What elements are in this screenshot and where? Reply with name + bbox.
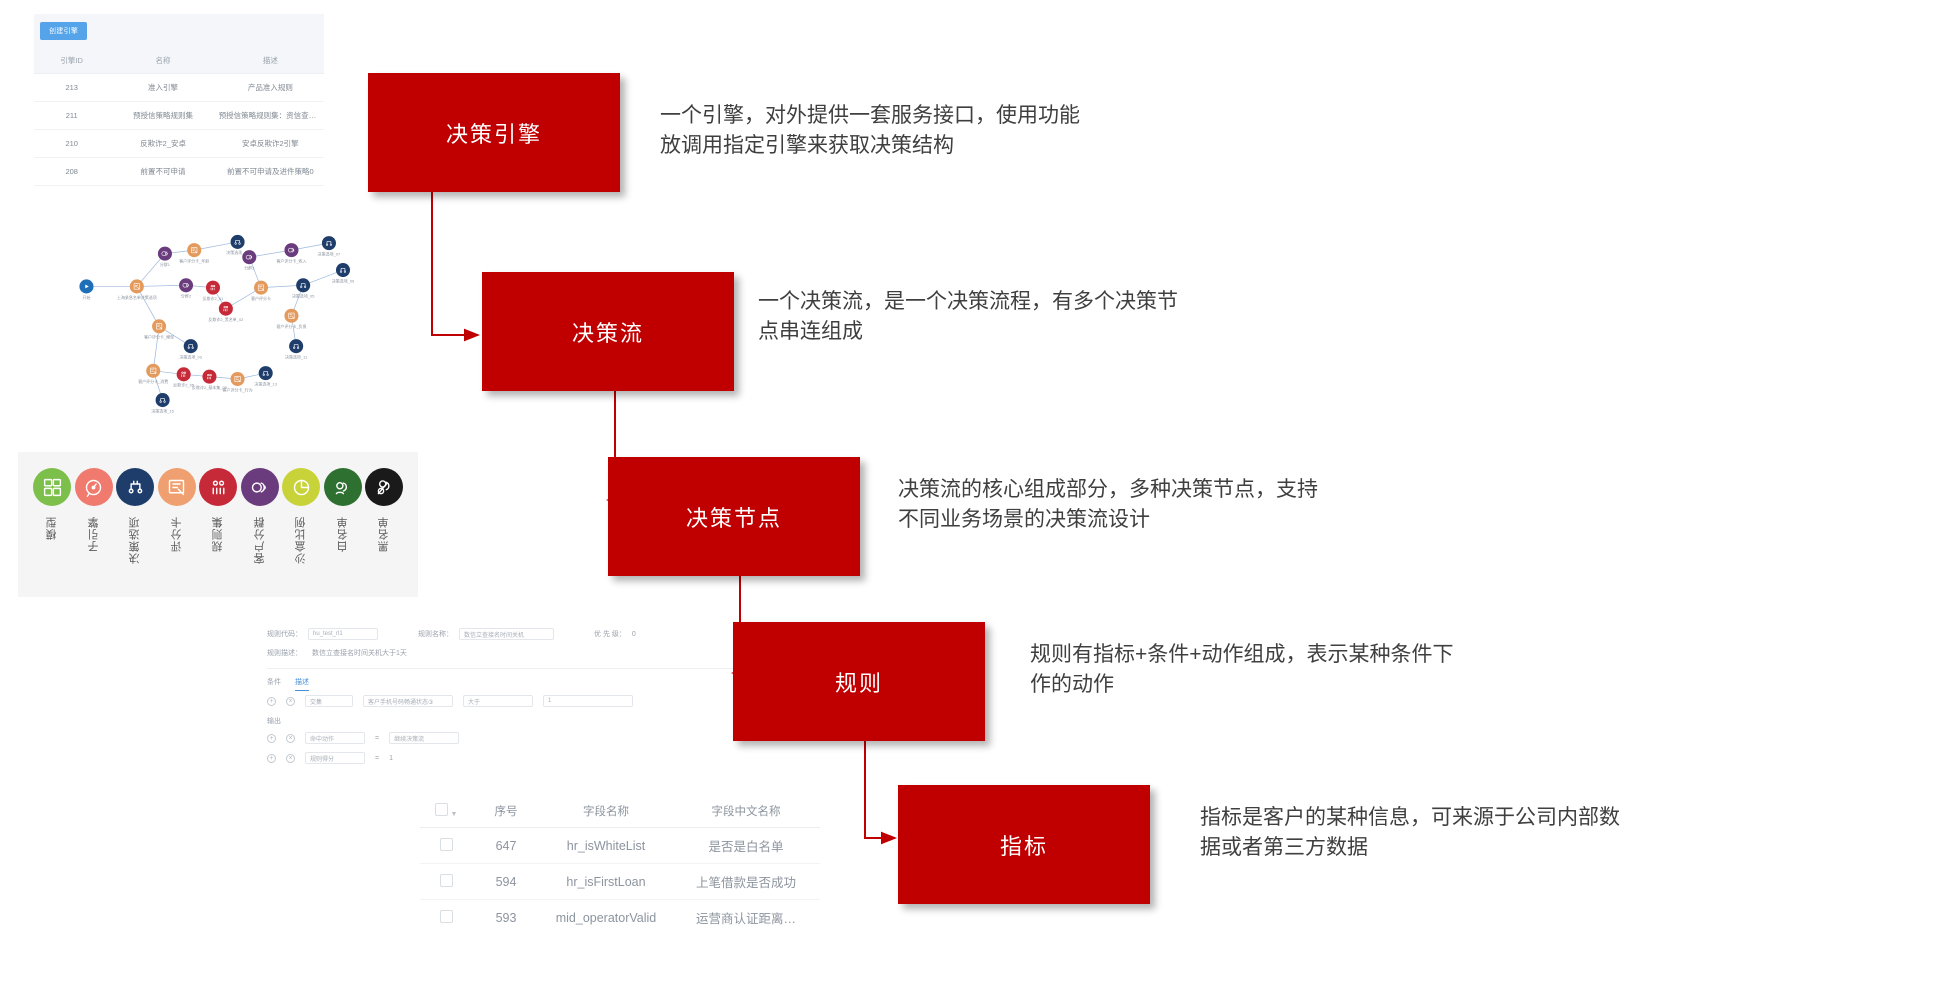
row-select-cell [420,864,472,900]
output-value-select[interactable]: 继续决策流 [389,732,459,744]
ruleset-icon [199,468,237,506]
remove-condition-icon[interactable]: × [286,697,295,706]
rule-priority-group: 优 先 级： 0 [594,628,636,640]
indicator-seq: 594 [472,864,540,900]
flow-node-label: 决策选项_07 [318,251,341,256]
remove-output-icon[interactable]: × [286,754,295,763]
select-all-cell: ▼ [420,795,472,828]
score-icon [152,319,166,333]
rule-tab-bar: 条件 描述 [255,675,785,691]
engine-name: 产品准入 [109,186,216,193]
chevron-down-icon[interactable]: ▼ [451,811,458,818]
callout-box-flow: 决策流 [482,272,734,391]
indicator-seq: 647 [472,828,540,864]
node-type-label: 白名单 [335,516,351,552]
rule-icon [219,302,233,316]
indicator-cn: 是否是白名单 [672,828,820,864]
rule-name-input[interactable]: 数信立查接名时间关机 [459,628,554,640]
indicator-table-screenshot: ▼ 序号 字段名称 字段中文名称 647 hr_isWhiteList 是否是白… [420,795,820,935]
flow-node[interactable]: 反欺诈2_黑名单_02 [208,302,243,322]
create-engine-button[interactable]: 创建引擎 [40,22,87,40]
flow-node[interactable]: 决策选项_11 [285,339,308,359]
output-row: + × 命中动作 = 继续决策流 [255,728,785,748]
segment-icon [284,243,298,257]
option-icon [130,279,144,293]
flow-node[interactable]: 决策选项_13 [254,366,277,386]
score-icon [254,281,268,295]
segment-icon [241,468,279,506]
flow-node-label: 分群3 [244,265,255,270]
node-type-sub-engine[interactable]: 子引擎 [74,468,114,564]
flow-edge [137,285,186,286]
segment-icon [158,247,172,261]
decision-icon [156,393,170,407]
flow-node[interactable]: 分群2 [179,278,193,298]
node-type-label: 沙盒比例 [293,516,309,564]
score-icon [146,364,160,378]
condition-operator-select[interactable]: 大于 [463,695,533,707]
node-type-whitelist[interactable]: 白名单 [323,468,363,564]
row-checkbox[interactable] [440,838,453,851]
flow-node-label: 反欺诈2_黑名单_02 [208,317,243,322]
engine-name: 前置不可申请 [109,158,216,186]
flow-node[interactable]: 客户评分卡_模型 [144,319,174,339]
node-type-label: 黑名单 [376,516,392,552]
note-indicator: 指标是客户的某种信息，可来源于公司内部数 据或者第三方数据 [1200,803,1880,864]
score-icon [284,309,298,323]
output-row: + × 规则得分 = 1 [255,748,785,768]
whitelist-icon [324,468,362,506]
condition-join-select[interactable]: 交集 [305,695,353,707]
condition-indicator-select[interactable]: 客户手机号码畅通状态③ [363,695,453,707]
engine-col-name: 名称 [109,48,216,74]
decision-icon [289,339,303,353]
rule-code-group: 规则代码： hu_test_rl1 [267,628,378,640]
engine-desc: 安卓反欺诈2引擎 [217,130,324,158]
blacklist-icon [365,468,403,506]
rule-priority-value[interactable]: 0 [632,631,636,638]
engine-id: 211 [34,102,109,130]
tab-condition[interactable]: 条件 [267,677,281,691]
decision-flow-screenshot: 开始上海紧急名单决策选项分群1客户评分卡_年龄决策选项_01分群2反欺诈2_01… [30,215,410,420]
engine-id: 210 [34,130,109,158]
flow-node-label: 客户评分卡_年龄 [179,258,209,263]
note-node: 决策流的核心组成部分，多种决策节点，支持 不同业务场景的决策流设计 [898,475,1578,536]
flow-node[interactable]: 决策选项_05 [292,278,315,298]
indicator-field: hr_isWhiteList [540,828,672,864]
engine-id: 207 [34,186,109,193]
flow-node[interactable]: 决策选项_03 [179,339,202,359]
engine-id: 213 [34,74,109,102]
engine-desc: 产品准入规则 [217,186,324,193]
decision-icon [184,339,198,353]
indicator-header-row: ▼ 序号 字段名称 字段中文名称 [420,795,820,828]
node-types-screenshot: 模型子引擎决策选项评分卡规则集客户分群沙盒比例白名单黑名单 [18,452,418,597]
flow-node-label: 决策选项_05 [292,294,315,299]
decision-icon [259,366,273,380]
rule-icon [202,370,216,384]
node-type-label: 模型 [44,516,60,540]
engine-col-desc: 描述 [217,48,324,74]
rule-desc-value[interactable]: 数信立查接名时间关机大于1天 [312,648,407,658]
flow-node-label: 客户评分卡_负债 [276,324,306,329]
output-section-title: 输出 [255,711,785,728]
indicator-seq: 593 [472,900,540,936]
output-field-select[interactable]: 规则得分 [305,752,365,764]
flow-node[interactable]: 开始 [79,279,93,299]
add-output-icon[interactable]: + [267,734,276,743]
callout-box-indicator: 指标 [898,785,1150,904]
flow-node-label: 客户评分卡_消费 [138,379,168,384]
table-row[interactable]: 594 hr_isFirstLoan 上笔借款是否成功 [420,864,820,900]
flow-node[interactable]: 决策选项_07 [318,236,341,256]
segment-icon [179,278,193,292]
flow-node[interactable]: 上海紧急名单决策选项 [117,279,157,299]
indicator-col-seq: 序号 [472,795,540,828]
callout-box-node: 决策节点 [608,457,860,576]
engine-name: 预授信策略规则集 [109,102,216,130]
flow-node[interactable]: 反欺诈2_01 [203,281,225,301]
row-select-cell [420,900,472,936]
row-checkbox[interactable] [440,874,453,887]
scorecard-icon [158,468,196,506]
node-type-ruleset[interactable]: 规则集 [198,468,238,564]
indicator-col-cn: 字段中文名称 [672,795,820,828]
divider [267,668,773,669]
flow-node[interactable]: 客户评分卡 [251,281,271,301]
slide-canvas: 创建引擎 引擎ID 名称 描述 213 准入引擎 产品准入规则 211 预授信策… [0,0,1934,998]
engine-table-header-row: 引擎ID 名称 描述 [34,48,324,74]
rule-icon [206,281,220,295]
table-row[interactable]: 211 预授信策略规则集 预授信策略规则集：资信查询节 [34,102,324,130]
node-type-decision-option[interactable]: 决策选项 [115,468,155,564]
add-output-icon[interactable]: + [267,754,276,763]
engine-name: 准入引擎 [109,74,216,102]
output-value[interactable]: 1 [389,755,393,762]
note-engine: 一个引擎，对外提供一套服务接口，使用功能 放调用指定引擎来获取决策结构 [660,101,1340,162]
table-row[interactable]: 208 前置不可申请 前置不可申请及进件策略0 [34,158,324,186]
output-field-select[interactable]: 命中动作 [305,732,365,744]
decision-icon [322,236,336,250]
flow-node-label: 决策选项_09 [332,278,355,283]
note-flow: 一个决策流，是一个决策流程，有多个决策节 点串连组成 [758,287,1438,348]
rule-meta-row: 规则代码： hu_test_rl1 规则名称： 数信立查接名时间关机 优 先 级… [255,620,785,644]
node-types-row: 模型子引擎决策选项评分卡规则集客户分群沙盒比例白名单黑名单 [18,452,418,564]
indicator-col-field: 字段名称 [540,795,672,828]
output-operator: = [375,755,379,762]
score-icon [187,243,201,257]
note-rule: 规则有指标+条件+动作组成，表示某种条件下 作的动作 [1030,640,1710,701]
rule-editor-screenshot: 规则代码： hu_test_rl1 规则名称： 数信立查接名时间关机 优 先 级… [255,620,785,800]
flow-node[interactable]: 客户评分卡_年龄 [179,243,209,263]
flow-node-label: 反欺诈2_01 [203,296,225,301]
table-row[interactable]: 593 mid_operatorValid 运营商认证距离… [420,900,820,936]
flow-node-label: 分群2 [181,294,191,299]
connector-rule-to-indicator [865,735,895,838]
node-type-label: 决策选项 [127,516,143,564]
flow-node[interactable]: 分群1 [158,247,172,267]
connector-engine-to-flow [432,190,478,335]
node-type-segment[interactable]: 客户分群 [240,468,280,564]
flow-node[interactable]: 客户评分卡_消费 [138,364,168,384]
flow-node[interactable]: 客户评分卡_收入 [276,243,306,263]
flow-node-label: 客户评分卡_模型 [144,335,174,340]
node-type-blacklist[interactable]: 黑名单 [364,468,404,564]
node-type-label: 评分卡 [169,516,185,552]
callout-box-rule: 规则 [733,622,985,741]
score-icon [231,372,245,386]
decision-option-icon [116,468,154,506]
node-type-label: 子引擎 [86,516,102,552]
sub-engine-icon [75,468,113,506]
node-type-label: 规则集 [210,516,226,552]
rule-icon [177,367,191,381]
flow-node-label: 决策选项_03 [179,355,202,360]
decision-icon [296,278,310,292]
engine-id: 208 [34,158,109,186]
decision-icon [336,263,350,277]
table-row[interactable]: 647 hr_isWhiteList 是否是白名单 [420,828,820,864]
rule-priority-label: 优 先 级： [594,629,626,639]
flow-node-label: 上海紧急名单决策选项 [117,295,157,300]
engine-name: 反欺诈2_安卓 [109,130,216,158]
engine-list-screenshot: 创建引擎 引擎ID 名称 描述 213 准入引擎 产品准入规则 211 预授信策… [34,14,324,192]
sandbox-ratio-icon [282,468,320,506]
flow-node-label: 开始 [82,295,90,300]
callout-box-engine: 决策引擎 [368,73,620,192]
rule-desc-label: 规则描述： [267,648,302,658]
flow-node-label: 客户评分卡 [251,296,271,301]
flow-node-label: 客户评分卡_行为 [223,387,253,392]
flow-node-label: 决策选项_15 [151,408,174,413]
engine-col-id: 引擎ID [34,48,109,74]
table-row[interactable]: 210 反欺诈2_安卓 安卓反欺诈2引擎 [34,130,324,158]
add-condition-icon[interactable]: + [267,697,276,706]
node-type-label: 客户分群 [252,516,268,564]
decision-icon [231,235,245,249]
engine-desc: 产品准入规则 [217,74,324,102]
flow-node-label: 分群1 [160,262,171,267]
rule-code-input[interactable]: hu_test_rl1 [308,628,378,640]
output-operator: = [375,735,379,742]
flow-node[interactable]: 决策选项_15 [151,393,174,413]
flow-nodes: 开始上海紧急名单决策选项分群1客户评分卡_年龄决策选项_01分群2反欺诈2_01… [79,235,355,413]
rule-name-label: 规则名称： [418,629,453,639]
rule-name-group: 规则名称： 数信立查接名时间关机 [418,628,554,640]
table-row[interactable]: 213 准入引擎 产品准入规则 [34,74,324,102]
segment-icon [242,250,256,264]
select-all-checkbox[interactable] [435,803,448,816]
node-type-model[interactable]: 模型 [32,468,72,564]
condition-row: + × 交集 客户手机号码畅通状态③ 大于 1 [255,691,785,711]
flow-node-label: 决策选项_11 [285,355,308,360]
rule-code-label: 规则代码： [267,629,302,639]
model-icon [33,468,71,506]
engine-desc: 预授信策略规则集：资信查询节 [217,102,324,130]
flow-node[interactable]: 分群3 [242,250,256,270]
indicator-table: ▼ 序号 字段名称 字段中文名称 647 hr_isWhiteList 是否是白… [420,795,820,935]
indicator-cn: 上笔借款是否成功 [672,864,820,900]
table-row[interactable]: 207 产品准入 产品准入规则 [34,186,324,193]
engine-desc: 前置不可申请及进件策略0 [217,158,324,186]
indicator-cn: 运营商认证距离… [672,900,820,936]
flow-graph: 开始上海紧急名单决策选项分群1客户评分卡_年龄决策选项_01分群2反欺诈2_01… [30,215,410,420]
row-select-cell [420,828,472,864]
flow-node-label: 客户评分卡_收入 [276,258,306,263]
engine-table: 引擎ID 名称 描述 213 准入引擎 产品准入规则 211 预授信策略规则集 … [34,48,324,192]
tab-description[interactable]: 描述 [295,677,309,691]
row-checkbox[interactable] [440,910,453,923]
indicator-field: hr_isFirstLoan [540,864,672,900]
condition-value-input[interactable]: 1 [543,695,633,707]
flow-node[interactable]: 客户评分卡_负债 [276,309,306,329]
node-type-sandbox-ratio[interactable]: 沙盒比例 [281,468,321,564]
flow-node[interactable]: 客户评分卡_行为 [223,372,253,392]
engine-toolbar: 创建引擎 [34,14,324,48]
rule-desc-row: 规则描述： 数信立查接名时间关机大于1天 [255,644,785,662]
flow-node-label: 决策选项_13 [254,381,277,386]
remove-output-icon[interactable]: × [286,734,295,743]
node-type-scorecard[interactable]: 评分卡 [157,468,197,564]
indicator-field: mid_operatorValid [540,900,672,936]
